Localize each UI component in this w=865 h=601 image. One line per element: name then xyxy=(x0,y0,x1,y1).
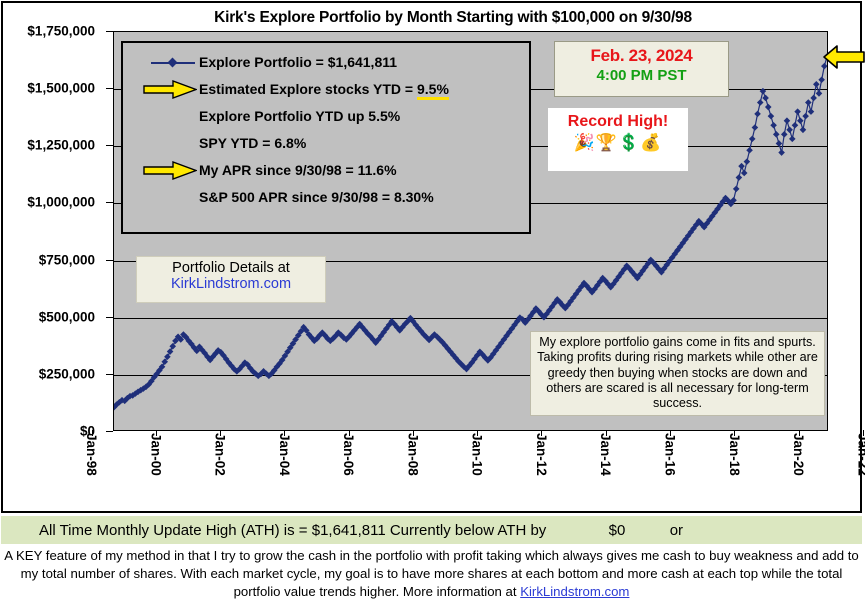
x-axis-tick xyxy=(413,430,414,436)
x-axis-tick xyxy=(863,430,864,436)
y-axis-tick-label: $1,500,000 xyxy=(27,81,95,96)
y-axis-tick xyxy=(106,31,113,32)
record-high-badge: Record High! 🎉🏆💲💰 xyxy=(548,108,688,171)
x-axis-tick-label: Jan-98 xyxy=(84,433,99,476)
x-axis-tick-label: Jan-16 xyxy=(663,433,678,476)
y-axis-tick xyxy=(106,145,113,146)
chart-frame: Kirk's Explore Portfolio by Month Starti… xyxy=(1,1,862,513)
y-axis-tick xyxy=(106,88,113,89)
date-time-box: Feb. 23, 2024 4:00 PM PST xyxy=(554,41,729,97)
x-axis-tick-label: Jan-14 xyxy=(598,433,613,476)
x-axis-tick-label: Jan-22 xyxy=(855,433,865,476)
legend-label: My APR since 9/30/98 = 11.6% xyxy=(199,157,397,184)
x-axis-tick xyxy=(220,430,221,436)
x-axis-tick xyxy=(541,430,542,436)
footer-link[interactable]: KirkLindstrom.com xyxy=(520,584,629,599)
y-axis-tick xyxy=(106,202,113,203)
y-axis-tick xyxy=(106,431,113,432)
x-axis-tick-label: Jan-00 xyxy=(148,433,163,476)
x-axis-tick-label: Jan-18 xyxy=(727,433,742,476)
legend-row-spy-ytd: SPY YTD = 6.8% xyxy=(127,130,529,157)
legend-row-estimated-ytd: Estimated Explore stocks YTD = 9.5% xyxy=(127,76,529,103)
legend-label: Explore Portfolio YTD up 5.5% xyxy=(199,103,400,130)
yellow-arrow-icon xyxy=(143,161,197,180)
y-axis-tick-label: $750,000 xyxy=(39,252,95,267)
x-axis-tick-label: Jan-02 xyxy=(213,433,228,476)
x-axis-tick-label: Jan-04 xyxy=(277,433,292,476)
ath-below-amount: $0 xyxy=(609,522,626,539)
legend-row-my-apr: My APR since 9/30/98 = 11.6% xyxy=(127,157,529,184)
legend-label-text: Estimated Explore stocks YTD = xyxy=(199,81,413,97)
legend-label: S&P 500 APR since 9/30/98 = 8.30% xyxy=(199,184,434,211)
details-label: Portfolio Details at xyxy=(137,260,325,276)
legend-row-portfolio-ytd: Explore Portfolio YTD up 5.5% xyxy=(127,103,529,130)
y-axis: $0$250,000$500,000$750,000$1,000,000$1,2… xyxy=(3,31,107,431)
x-axis-tick-label: Jan-10 xyxy=(470,433,485,476)
x-axis-tick-label: Jan-12 xyxy=(534,433,549,476)
y-axis-tick xyxy=(106,260,113,261)
ath-status-part1: All Time Monthly Update High (ATH) is = … xyxy=(39,522,546,539)
y-axis-tick-label: $1,250,000 xyxy=(27,138,95,153)
x-axis-tick xyxy=(670,430,671,436)
legend-highlight-value: 9.5% xyxy=(417,81,449,100)
y-axis-tick-label: $250,000 xyxy=(39,366,95,381)
legend-box: Explore Portfolio = $1,641,811 Estimated… xyxy=(121,41,531,234)
quote-time: 4:00 PM PST xyxy=(555,67,728,84)
x-axis-tick xyxy=(284,430,285,436)
x-axis-tick xyxy=(156,430,157,436)
legend-row-sp500-apr: S&P 500 APR since 9/30/98 = 8.30% xyxy=(127,184,529,211)
ath-status-part2: or xyxy=(670,522,683,539)
celebration-icons: 🎉🏆💲💰 xyxy=(549,133,687,153)
left-pointing-arrow-icon xyxy=(823,44,865,70)
quote-date: Feb. 23, 2024 xyxy=(555,46,728,66)
x-axis-tick xyxy=(799,430,800,436)
commentary-box: My explore portfolio gains come in fits … xyxy=(530,331,825,416)
x-axis-tick xyxy=(734,430,735,436)
footer-note: A KEY feature of my method in that I try… xyxy=(1,546,862,601)
x-axis: Jan-98Jan-00Jan-02Jan-04Jan-06Jan-08Jan-… xyxy=(113,433,828,511)
series-marker-icon xyxy=(151,62,195,64)
y-axis-tick xyxy=(106,317,113,318)
y-axis-tick-label: $1,000,000 xyxy=(27,195,95,210)
chart-page: Kirk's Explore Portfolio by Month Starti… xyxy=(0,0,865,601)
yellow-arrow-icon xyxy=(143,80,197,99)
ath-status-text: All Time Monthly Update High (ATH) is = … xyxy=(1,522,683,539)
x-axis-tick xyxy=(606,430,607,436)
footer-text: A KEY feature of my method in that I try… xyxy=(4,548,858,599)
y-axis-tick xyxy=(106,374,113,375)
legend-label: SPY YTD = 6.8% xyxy=(199,130,306,157)
record-high-label: Record High! xyxy=(549,113,687,131)
x-axis-tick xyxy=(349,430,350,436)
legend-label: Estimated Explore stocks YTD = 9.5% xyxy=(199,76,449,103)
x-axis-tick xyxy=(92,430,93,436)
x-axis-tick-label: Jan-20 xyxy=(791,433,806,476)
x-axis-tick xyxy=(477,430,478,436)
ath-status-bar: All Time Monthly Update High (ATH) is = … xyxy=(1,516,862,544)
x-axis-tick-label: Jan-06 xyxy=(341,433,356,476)
portfolio-details-box: Portfolio Details at KirkLindstrom.com xyxy=(136,256,326,303)
y-axis-tick-label: $1,750,000 xyxy=(27,24,95,39)
details-link[interactable]: KirkLindstrom.com xyxy=(137,276,325,292)
page-title: Kirk's Explore Portfolio by Month Starti… xyxy=(113,9,793,27)
legend-label: Explore Portfolio = $1,641,811 xyxy=(199,49,397,76)
legend-row-explore-portfolio: Explore Portfolio = $1,641,811 xyxy=(127,49,529,76)
x-axis-tick-label: Jan-08 xyxy=(405,433,420,476)
y-axis-tick-label: $500,000 xyxy=(39,309,95,324)
